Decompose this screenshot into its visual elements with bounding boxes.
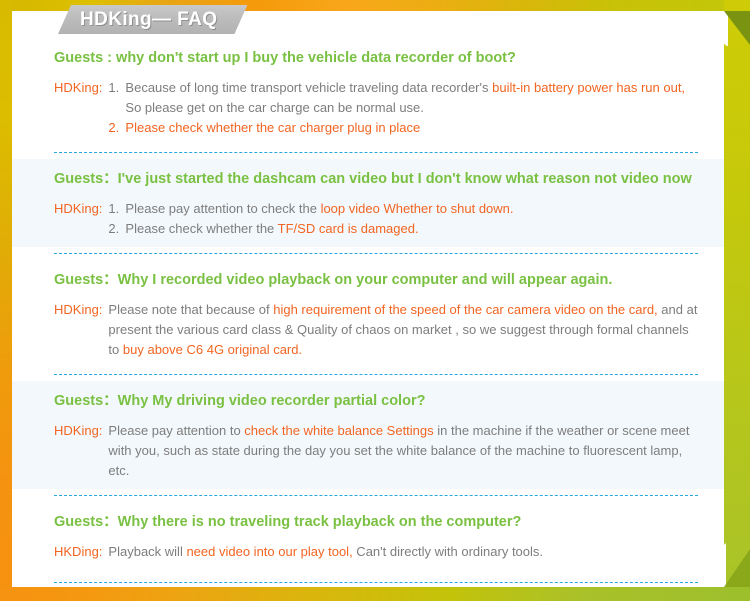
bottom-decorative-bar <box>0 587 750 601</box>
faq-item-text: Please check whether the TF/SD card is d… <box>125 219 698 239</box>
faq-answer-label: HDKing: <box>54 199 108 219</box>
faq-answer-label: HKDing: <box>54 542 108 562</box>
faq-answer-item: Playback will need video into our play t… <box>108 542 698 562</box>
faq-highlight-text: built-in battery power has run out, <box>492 80 685 95</box>
faq-answer-body: 1.Please pay attention to check the loop… <box>108 199 698 239</box>
faq-item-number: 2. <box>108 118 125 138</box>
faq-answer: HDKing:1.Please pay attention to check t… <box>54 199 698 239</box>
faq-item-text: Please check whether the car charger plu… <box>125 118 698 138</box>
faq-highlight-text: check the white balance Settings <box>244 423 433 438</box>
faq-highlight-text: high requirement of the speed of the car… <box>273 302 657 317</box>
faq-plain-text: Can't directly with ordinary tools. <box>353 544 543 559</box>
faq-highlight-text: TF/SD card is damaged. <box>278 221 419 236</box>
faq-item-number: 2. <box>108 219 125 239</box>
faq-plain-text: Please check whether the <box>125 221 277 236</box>
faq-answer: HDKing:Please pay attention to check the… <box>54 421 698 481</box>
faq-answer-item: 1.Please pay attention to check the loop… <box>108 199 698 219</box>
faq-item-number: 1. <box>108 199 125 219</box>
faq-question: Guests：Why My driving video recorder par… <box>54 391 698 412</box>
faq-answer-label: HDKing: <box>54 421 108 441</box>
faq-question: Guests：Why I recorded video playback on … <box>54 270 698 291</box>
faq-item-text: Please pay attention to check the white … <box>108 421 698 481</box>
faq-plain-text: Please note that because of <box>108 302 273 317</box>
right-decorative-bar <box>724 0 750 601</box>
left-decorative-bar <box>0 0 12 601</box>
faq-highlight-text: loop video Whether to shut down. <box>321 201 514 216</box>
faq-answer-label: HDKing: <box>54 300 108 320</box>
faq-plain-text: Please pay attention to <box>108 423 244 438</box>
faq-highlight-text: need video into our play tool, <box>186 544 352 559</box>
faq-divider <box>54 582 698 583</box>
faq-answer-item: 1.Because of long time transport vehicle… <box>108 78 698 118</box>
faq-plain-text: Because of long time transport vehicle t… <box>125 80 492 95</box>
faq-item-text: Please note that because of high require… <box>108 300 698 360</box>
faq-answer-item: Please note that because of high require… <box>108 300 698 360</box>
faq-block: Guests：Why I recorded video playback on … <box>12 260 724 368</box>
faq-answer-body: Please note that because of high require… <box>108 300 698 360</box>
faq-answer-label: HDKing: <box>54 78 108 98</box>
faq-answer: HDKing:Please note that because of high … <box>54 300 698 360</box>
faq-answer-body: 1.Because of long time transport vehicle… <box>108 78 698 138</box>
faq-plain-text: Please pay attention to check the <box>125 201 320 216</box>
faq-question: Guests : why don't start up I buy the ve… <box>54 48 698 69</box>
faq-answer: HKDing:Playback will need video into our… <box>54 542 698 562</box>
faq-answer-body: Playback will need video into our play t… <box>108 542 698 562</box>
faq-item-text: Please pay attention to check the loop v… <box>125 199 698 219</box>
faq-question: Guests：I've just started the dashcam can… <box>54 169 698 190</box>
faq-highlight-text: buy above C6 4G original card. <box>123 342 302 357</box>
faq-item-number: 1. <box>108 78 125 98</box>
faq-item-text: Playback will need video into our play t… <box>108 542 698 562</box>
page-title: HDKing— FAQ <box>80 9 217 31</box>
faq-plain-text: Playback will <box>108 544 186 559</box>
faq-block: Guests：Why My driving video recorder par… <box>12 381 724 489</box>
faq-page: HDKing— FAQ Guests : why don't start up … <box>0 0 750 601</box>
faq-block: Guests : why don't start up I buy the ve… <box>12 38 724 146</box>
faq-answer-item: 2.Please check whether the TF/SD card is… <box>108 219 698 239</box>
faq-answer-item: Please pay attention to check the white … <box>108 421 698 481</box>
faq-answer-item: 2.Please check whether the car charger p… <box>108 118 698 138</box>
faq-highlight-text: Please check whether the car charger plu… <box>125 120 420 135</box>
faq-answer-body: Please pay attention to check the white … <box>108 421 698 481</box>
faq-list: Guests : why don't start up I buy the ve… <box>12 38 724 587</box>
faq-question: Guests：Why there is no traveling track p… <box>54 512 698 533</box>
faq-block: Guests：I've just started the dashcam can… <box>12 159 724 247</box>
faq-answer: HDKing:1.Because of long time transport … <box>54 78 698 138</box>
faq-item-text: Because of long time transport vehicle t… <box>125 78 698 118</box>
faq-plain-text: So please get on the car charge can be n… <box>125 100 423 115</box>
faq-block: Guests：Why there is no traveling track p… <box>12 502 724 570</box>
spacer <box>12 570 724 582</box>
page-banner: HDKing— FAQ <box>58 5 247 34</box>
